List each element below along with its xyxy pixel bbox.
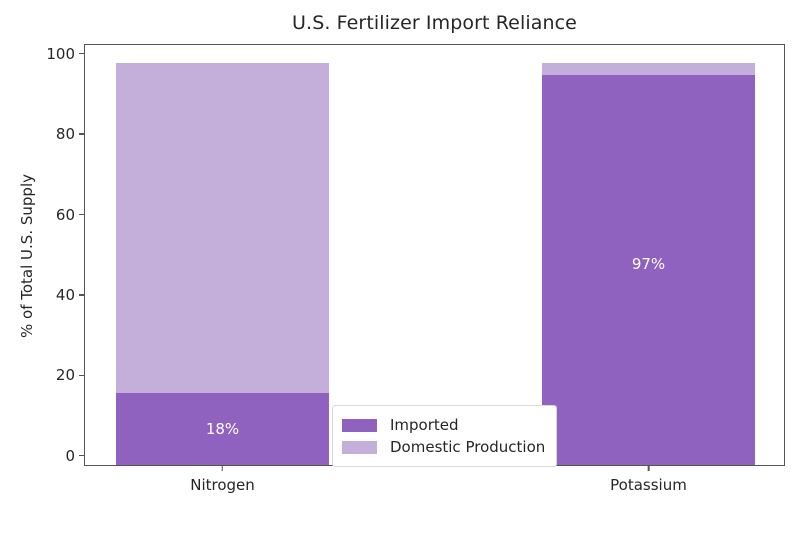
y-tick-mark [79, 455, 85, 456]
bar-group-nitrogen: 18% [116, 63, 329, 465]
bar-group-potassium: 97% [542, 63, 755, 465]
y-tick-mark [79, 375, 85, 376]
y-tick-label: 20 [56, 366, 79, 384]
bar-segment-potassium-imported[interactable]: 97% [542, 75, 755, 465]
bar-segment-potassium-domestic[interactable] [542, 63, 755, 75]
y-tick-mark [79, 294, 85, 295]
y-tick-mark [79, 53, 85, 54]
legend-label: Domestic Production [377, 438, 545, 456]
y-tick-label: 100 [46, 45, 79, 63]
plot-area: % of Total U.S. Supply 100 80 60 40 20 0 [84, 44, 785, 466]
legend-swatch-imported [342, 419, 377, 432]
bar-segment-nitrogen-domestic[interactable] [116, 63, 329, 393]
bar-segment-nitrogen-imported[interactable]: 18% [116, 393, 329, 465]
y-tick-40: 40 [56, 286, 85, 304]
y-tick-label: 0 [65, 447, 79, 465]
legend-label: Imported [377, 416, 459, 434]
x-tick-potassium: Potassium [610, 465, 687, 494]
bar-value-label: 18% [206, 420, 239, 438]
y-axis-label: % of Total U.S. Supply [18, 174, 36, 338]
legend-item-imported[interactable]: Imported [342, 414, 545, 436]
y-tick-20: 20 [56, 366, 85, 384]
y-tick-label: 80 [56, 125, 79, 143]
legend-swatch-domestic-production [342, 441, 377, 454]
y-tick-mark [79, 214, 85, 215]
y-tick-label: 60 [56, 206, 79, 224]
y-tick-0: 0 [65, 447, 85, 465]
y-tick-60: 60 [56, 206, 85, 224]
chart-title: U.S. Fertilizer Import Reliance [84, 12, 785, 34]
legend-item-domestic-production[interactable]: Domestic Production [342, 436, 545, 458]
bar-value-label: 97% [632, 255, 665, 273]
chart-legend[interactable]: Imported Domestic Production [332, 405, 557, 467]
y-tick-100: 100 [46, 45, 85, 63]
y-tick-80: 80 [56, 125, 85, 143]
x-tick-label: Nitrogen [190, 471, 255, 494]
x-tick-label: Potassium [610, 471, 687, 494]
y-tick-mark [79, 133, 85, 134]
y-tick-label: 40 [56, 286, 79, 304]
x-tick-nitrogen: Nitrogen [190, 465, 255, 494]
chart-figure: U.S. Fertilizer Import Reliance % of Tot… [0, 0, 804, 548]
